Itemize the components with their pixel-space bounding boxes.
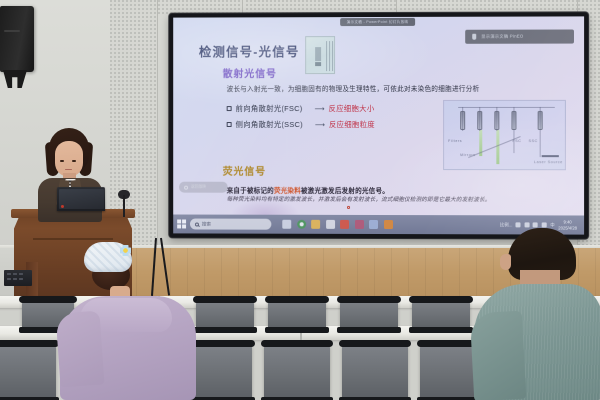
wps-icon[interactable] (340, 220, 349, 229)
panel-seam (157, 0, 158, 252)
chair (268, 300, 326, 330)
arrow-icon: ⟶ (315, 121, 324, 129)
slide-bullet-fsc: 前向角散射光(FSC) ⟶ 反应细胞大小 (227, 103, 375, 114)
diagram-label-ssc: SSC (529, 139, 538, 143)
display-screen[interactable]: 演示文稿 - PowerPoint 幻灯片放映 显示演示文稿 PinEO 检测信… (173, 16, 584, 234)
ppt-return-button[interactable]: 返回放映 (179, 182, 228, 193)
presenter-face (55, 141, 83, 177)
wall-mounted-display[interactable]: 演示文稿 - PowerPoint 幻灯片放映 显示演示文稿 PinEO 检测信… (169, 12, 588, 238)
microphone-stand (123, 195, 125, 217)
audience-right-shoulder (470, 311, 527, 400)
battery-icon[interactable] (542, 222, 547, 227)
chair (0, 344, 56, 400)
diagram-label-mirrors: Mirrors (460, 153, 475, 157)
taskbar-search-input[interactable]: 搜索 (190, 219, 271, 230)
checkbox-icon (227, 122, 232, 127)
av-control-box (4, 270, 32, 286)
conference-room-scene: 演示文稿 - PowerPoint 幻灯片放映 显示演示文稿 PinEO 检测信… (0, 0, 600, 400)
ppt-title-chip: 演示文稿 - PowerPoint 幻灯片放映 (340, 18, 416, 26)
podium-laptop (57, 187, 105, 211)
file-explorer-icon[interactable] (311, 220, 320, 229)
photos-icon[interactable] (369, 220, 378, 229)
presenter-eye-right (72, 160, 76, 162)
slide-section1-body: 波长与入射光一致，为细胞固有的物理及生理特性，可依此对未染色的细胞进行分析 (227, 83, 480, 93)
slide-inline-image (305, 36, 335, 74)
ppt-presenter-pill-label: 显示演示文稿 PinEO (481, 34, 523, 40)
slide-section1-heading: 散射光信号 (223, 65, 277, 80)
laptop-indicator-light (61, 205, 64, 208)
chair (264, 344, 330, 400)
task-view-icon[interactable] (282, 220, 291, 229)
bullet-result: 反应细胞大小 (328, 103, 374, 114)
volume-icon[interactable] (533, 222, 538, 227)
diagram-label-fsc: FSC (512, 139, 521, 143)
chair (412, 300, 470, 330)
ppt-presenter-pill[interactable]: 显示演示文稿 PinEO (465, 29, 574, 43)
diagram-label-filters: Filters (448, 139, 462, 143)
ppt-return-button-label: 返回放映 (191, 185, 206, 190)
acoustic-panel-top-middle (246, 0, 396, 13)
section2-body-highlight: 荧光染料 (274, 188, 301, 195)
chair (340, 300, 398, 330)
tray-chip-label[interactable]: 比例... (500, 222, 513, 228)
slide-section2-body: 来自于被标记的荧光染料被激光激发后发射的光信号。 (227, 185, 389, 195)
store-icon[interactable] (383, 220, 392, 229)
slide-bullet-ssc: 侧向角散射光(SSC) ⟶ 反应细胞粒度 (227, 119, 375, 130)
audience-member-left (64, 238, 196, 400)
laser-source-bar (542, 155, 559, 157)
start-button-icon[interactable] (177, 219, 186, 228)
search-icon (195, 222, 199, 226)
bullet-result: 反应细胞粒度 (329, 119, 375, 130)
audience-member-right (486, 228, 600, 400)
diagram-label-laser-source: Laser Source (534, 160, 563, 164)
taskbar-search-placeholder: 搜索 (202, 221, 211, 227)
slide-section2-heading: 荧光信号 (223, 163, 266, 178)
taskbar-app-icons[interactable] (282, 220, 392, 229)
bullet-label: 前向角散射光(FSC) (236, 103, 303, 114)
mail-icon[interactable] (326, 220, 335, 229)
return-icon (184, 185, 188, 189)
powerpoint-icon[interactable] (355, 220, 364, 229)
chair (196, 300, 254, 330)
network-icon[interactable] (524, 222, 529, 227)
chair (342, 344, 408, 400)
slide-cursor-marker (347, 206, 349, 209)
slide-section2-note: 每种荧光染料均有特定的激发波长，并激发后会有发射波长，流式细胞仪检测的即是它最大… (227, 195, 491, 204)
checkbox-icon (227, 106, 232, 111)
arrow-icon: ⟶ (314, 105, 323, 113)
audience-left-arm (55, 311, 104, 388)
presenter-pill-icon (472, 34, 476, 40)
chevron-up-icon[interactable] (516, 222, 521, 227)
presentation-slide[interactable]: 演示文稿 - PowerPoint 幻灯片放映 显示演示文稿 PinEO 检测信… (173, 16, 584, 215)
flow-cytometry-optics-diagram: Filters Mirrors FSC SSC Laser Source (443, 100, 566, 170)
slide-title: 检测信号-光信号 (199, 41, 300, 60)
chrome-icon[interactable] (297, 220, 306, 229)
presenter-eye-left (60, 160, 64, 162)
audience-right-ear (500, 254, 511, 270)
flower-hair-clip-icon (120, 245, 131, 256)
wall-speaker (0, 6, 34, 72)
bullet-label: 侧向角散射光(SSC) (236, 119, 303, 130)
